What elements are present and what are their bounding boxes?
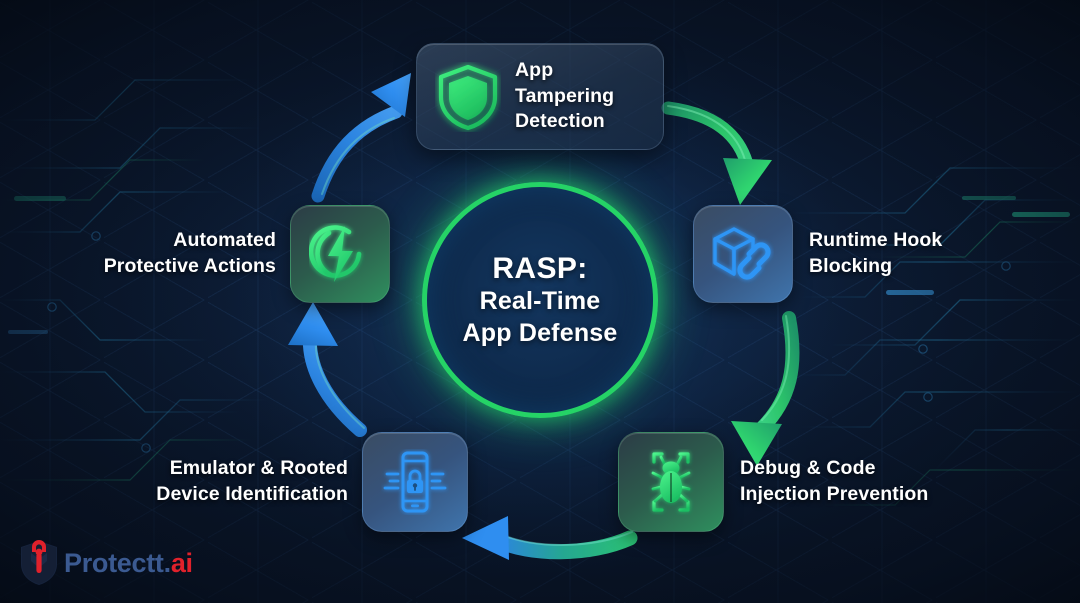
node-label: Emulator & Rooted Device Identification: [156, 456, 348, 507]
node-label: App Tampering Detection: [515, 58, 614, 135]
node-tile: [618, 432, 724, 532]
center-title-line2: Real-Time: [480, 286, 601, 318]
bug-scan-icon: [637, 449, 705, 515]
node-label: Runtime Hook Blocking: [809, 228, 942, 279]
node-tile: [693, 205, 793, 303]
node-label: Automated Protective Actions: [104, 228, 276, 279]
brand-wordmark: Protectt . ai: [64, 548, 193, 579]
bolt-circle-icon: [309, 223, 371, 285]
brand-logo[interactable]: Protectt . ai: [18, 539, 193, 587]
shield-lock-icon: [18, 539, 60, 587]
node-tile: [290, 205, 390, 303]
node-card: App Tampering Detection: [416, 43, 664, 150]
node-emulator-rooted-device-identification[interactable]: Emulator & Rooted Device Identification: [128, 433, 468, 531]
node-label: Debug & Code Injection Prevention: [740, 456, 928, 507]
brand-name-dot: .: [164, 548, 171, 579]
center-title-line1: RASP:: [492, 251, 587, 286]
infographic-canvas: RASP: Real-Time App Defense: [0, 0, 1080, 603]
node-automated-protective-actions[interactable]: Automated Protective Actions: [100, 206, 390, 302]
node-tile: [362, 432, 468, 532]
center-circle-ring: RASP: Real-Time App Defense: [422, 182, 658, 418]
node-debug-code-injection-prevention[interactable]: Debug & Code Injection Prevention: [618, 433, 978, 531]
node-runtime-hook-blocking[interactable]: Runtime Hook Blocking: [693, 206, 993, 302]
phone-lock-icon: [381, 449, 449, 515]
center-circle: RASP: Real-Time App Defense: [422, 182, 658, 418]
brand-name-accent: ai: [171, 548, 193, 579]
cube-link-icon: [712, 223, 774, 285]
center-title-line3: App Defense: [462, 318, 617, 350]
brand-name-primary: Protectt: [64, 548, 164, 579]
node-app-tampering-detection[interactable]: App Tampering Detection: [416, 43, 664, 150]
shield-icon: [435, 62, 501, 132]
